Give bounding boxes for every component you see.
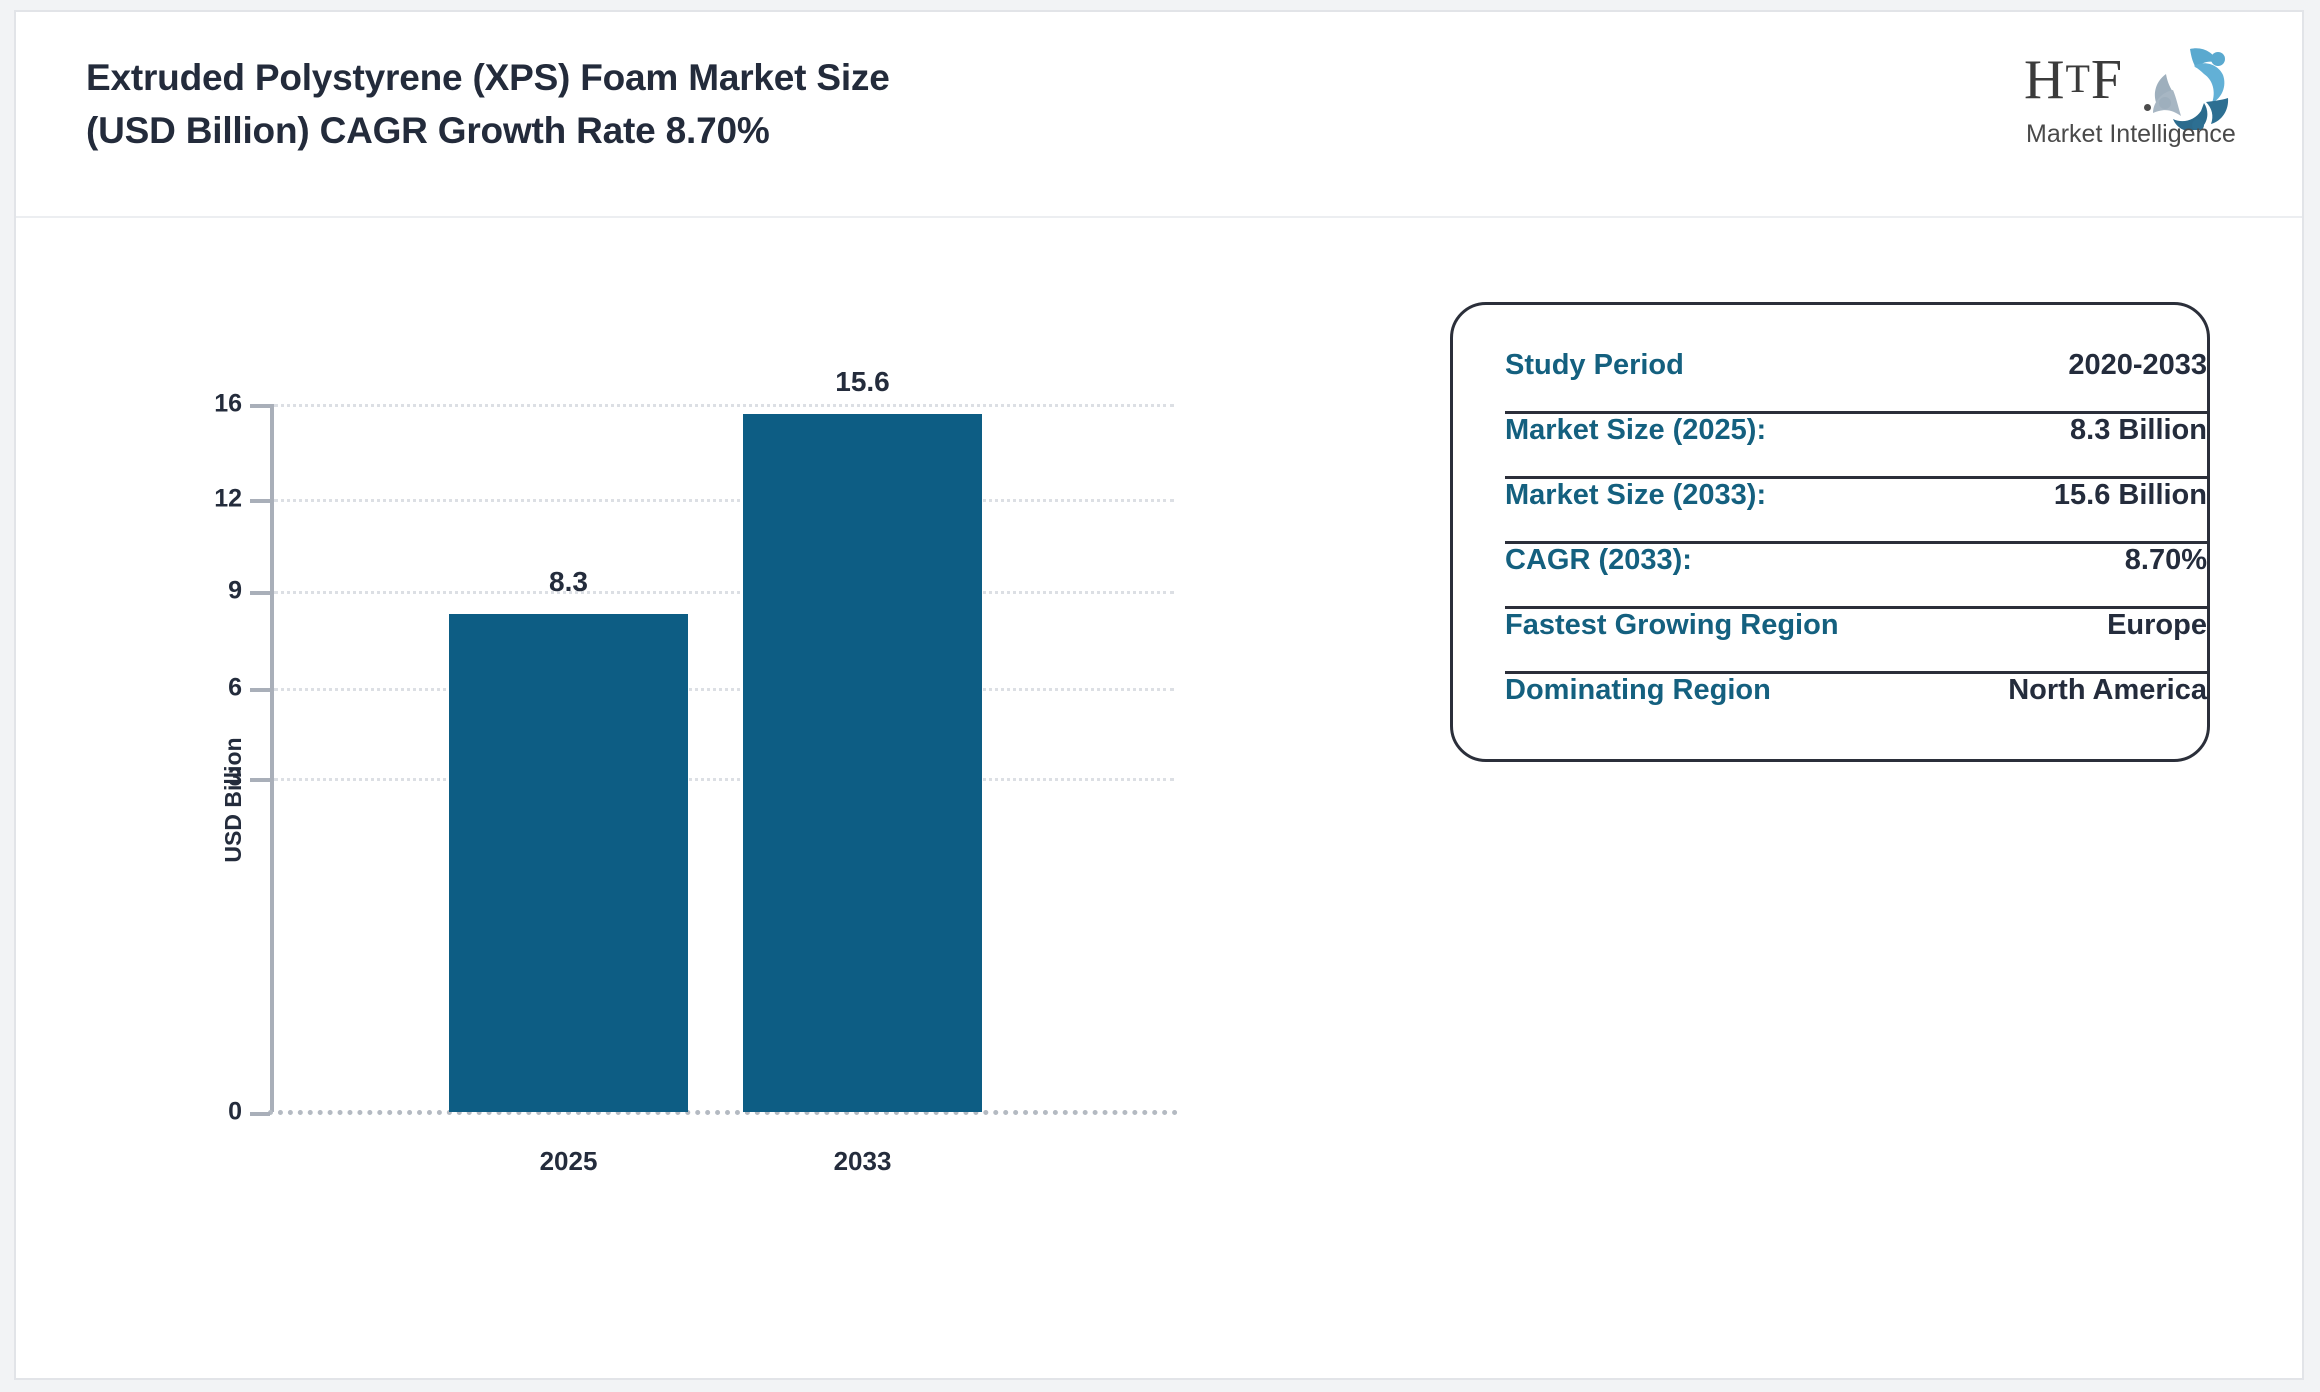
- summary-row: Market Size (2025):8.3 Billion: [1505, 414, 2207, 479]
- bar-chart: USD Billion 036912168.3202515.62033: [16, 218, 1416, 1382]
- y-axis-tick-label: 16: [214, 390, 242, 419]
- y-axis-tick: [250, 778, 270, 782]
- logo-letter-f: F: [2091, 49, 2123, 111]
- summary-row-label: Dominating Region: [1505, 674, 1771, 707]
- gridline: [274, 404, 1174, 407]
- y-axis-tick-label: 6: [228, 674, 242, 703]
- x-axis-category-label: 2025: [540, 1146, 598, 1177]
- summary-row-label: CAGR (2033):: [1505, 544, 1692, 577]
- summary-row-list: Study Period2020-2033Market Size (2025):…: [1505, 349, 2207, 736]
- bar-value-label: 15.6: [835, 366, 890, 398]
- y-axis-tick: [250, 1112, 270, 1116]
- summary-row: Dominating RegionNorth America: [1505, 674, 2207, 736]
- summary-row-value: 8.70%: [2125, 544, 2207, 577]
- page-title-line-2: (USD Billion) CAGR Growth Rate 8.70%: [86, 105, 1486, 158]
- summary-row: Study Period2020-2033: [1505, 349, 2207, 414]
- logo-letter-t: T: [2065, 56, 2090, 101]
- summary-row-label: Market Size (2033):: [1505, 479, 1766, 512]
- y-axis-tick-label: 3: [228, 764, 242, 793]
- brand-logo: HTF: [2024, 46, 2234, 166]
- summary-row-value: North America: [2008, 674, 2207, 707]
- logo-wordmark: HTF: [2024, 52, 2123, 108]
- summary-row-value: 8.3 Billion: [2070, 414, 2207, 447]
- summary-card: Study Period2020-2033Market Size (2025):…: [1450, 302, 2210, 762]
- plot-area: 036912168.3202515.62033: [274, 404, 1174, 1112]
- gridline: [274, 688, 1174, 691]
- summary-row-value: 15.6 Billion: [2054, 479, 2207, 512]
- gridline: [274, 591, 1174, 594]
- x-axis-category-label: 2033: [834, 1146, 892, 1177]
- y-axis-tick: [250, 591, 270, 595]
- main-card: Extruded Polystyrene (XPS) Foam Market S…: [14, 10, 2304, 1380]
- infographic-page: Extruded Polystyrene (XPS) Foam Market S…: [0, 0, 2320, 1392]
- summary-row: CAGR (2033):8.70%: [1505, 544, 2207, 609]
- summary-row-value: Europe: [2107, 609, 2207, 642]
- logo-subtitle: Market Intelligence: [2026, 120, 2236, 149]
- summary-row-label: Study Period: [1505, 349, 1684, 382]
- logo-letter-h: H: [2024, 49, 2065, 111]
- htf-swirl-logo-icon: [2132, 46, 2236, 130]
- summary-row: Market Size (2033):15.6 Billion: [1505, 479, 2207, 544]
- y-axis-tick: [250, 499, 270, 503]
- summary-row-label: Fastest Growing Region: [1505, 609, 1839, 642]
- y-axis-title: USD Billion: [220, 737, 247, 862]
- y-axis-tick: [250, 404, 270, 408]
- gridline: [274, 499, 1174, 502]
- bar[interactable]: 8.32025: [449, 614, 688, 1112]
- x-axis-line: [268, 1110, 1178, 1115]
- bar-value-label: 8.3: [549, 566, 588, 598]
- page-title-line-1: Extruded Polystyrene (XPS) Foam Market S…: [86, 52, 1486, 105]
- y-axis-tick-label: 12: [214, 485, 242, 514]
- bar[interactable]: 15.62033: [743, 414, 982, 1113]
- page-title: Extruded Polystyrene (XPS) Foam Market S…: [86, 52, 1486, 157]
- header: Extruded Polystyrene (XPS) Foam Market S…: [16, 12, 2302, 218]
- y-axis-line: [270, 404, 274, 1112]
- summary-row: Fastest Growing RegionEurope: [1505, 609, 2207, 674]
- summary-row-label: Market Size (2025):: [1505, 414, 1766, 447]
- gridline: [274, 778, 1174, 781]
- y-axis-tick-label: 9: [228, 577, 242, 606]
- y-axis-tick-label: 0: [228, 1098, 242, 1127]
- summary-row-value: 2020-2033: [2068, 349, 2207, 382]
- y-axis-tick: [250, 688, 270, 692]
